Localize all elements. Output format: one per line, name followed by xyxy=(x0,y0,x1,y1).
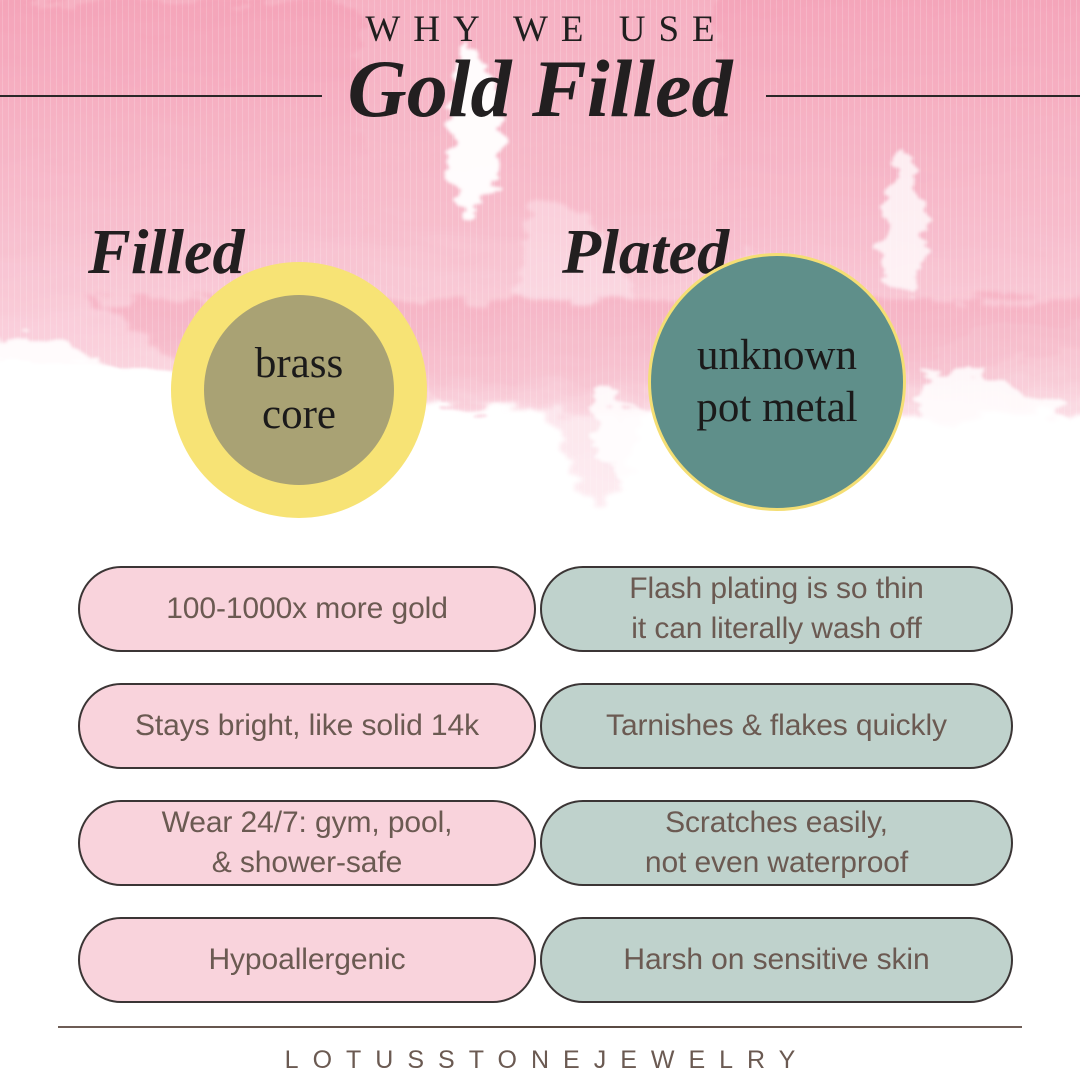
header: WHY WE USE Gold Filled xyxy=(0,0,1080,150)
brass-core-line-1: brass xyxy=(255,339,343,390)
plated-drawback-pill: Tarnishes & flakes quickly xyxy=(540,683,1013,769)
table-row: Wear 24/7: gym, pool,& shower-safe Scrat… xyxy=(0,800,1080,917)
material-comparison-diagram: Filled brass core Plated unknown pot met… xyxy=(0,200,1080,520)
filled-category-label: Filled xyxy=(88,220,244,284)
plated-drawback-pill: Harsh on sensitive skin xyxy=(540,917,1013,1003)
footer: LOTUSSTONEJEWELRY xyxy=(0,1026,1080,1080)
pot-metal-line-1: unknown xyxy=(697,330,857,382)
filled-benefit-pill: Wear 24/7: gym, pool,& shower-safe xyxy=(78,800,536,886)
brass-core-circle: brass core xyxy=(204,295,394,485)
table-row: Hypoallergenic Harsh on sensitive skin xyxy=(0,917,1080,1034)
gold-filled-ring-diagram: brass core xyxy=(171,262,427,518)
footer-divider xyxy=(58,1026,1022,1028)
filled-benefit-pill: Hypoallergenic xyxy=(78,917,536,1003)
brass-core-text: brass core xyxy=(204,295,394,485)
page-title: Gold Filled xyxy=(0,46,1080,132)
plated-drawback-pill: Scratches easily,not even waterproof xyxy=(540,800,1013,886)
brand-name: LOTUSSTONEJEWELRY xyxy=(0,1046,1080,1075)
pot-metal-text: unknown pot metal xyxy=(651,256,903,508)
table-row: 100-1000x more gold Flash plating is so … xyxy=(0,566,1080,683)
infographic-canvas: WHY WE USE Gold Filled Filled brass core… xyxy=(0,0,1080,1080)
gold-plated-circle-diagram: unknown pot metal xyxy=(648,253,906,511)
filled-benefit-pill: Stays bright, like solid 14k xyxy=(78,683,536,769)
filled-benefit-pill: 100-1000x more gold xyxy=(78,566,536,652)
plated-drawback-pill: Flash plating is so thinit can literally… xyxy=(540,566,1013,652)
pot-metal-line-2: pot metal xyxy=(696,382,857,434)
table-row: Stays bright, like solid 14k Tarnishes &… xyxy=(0,683,1080,800)
brass-core-line-2: core xyxy=(262,390,336,441)
benefit-comparison-table: 100-1000x more gold Flash plating is so … xyxy=(0,566,1080,1034)
